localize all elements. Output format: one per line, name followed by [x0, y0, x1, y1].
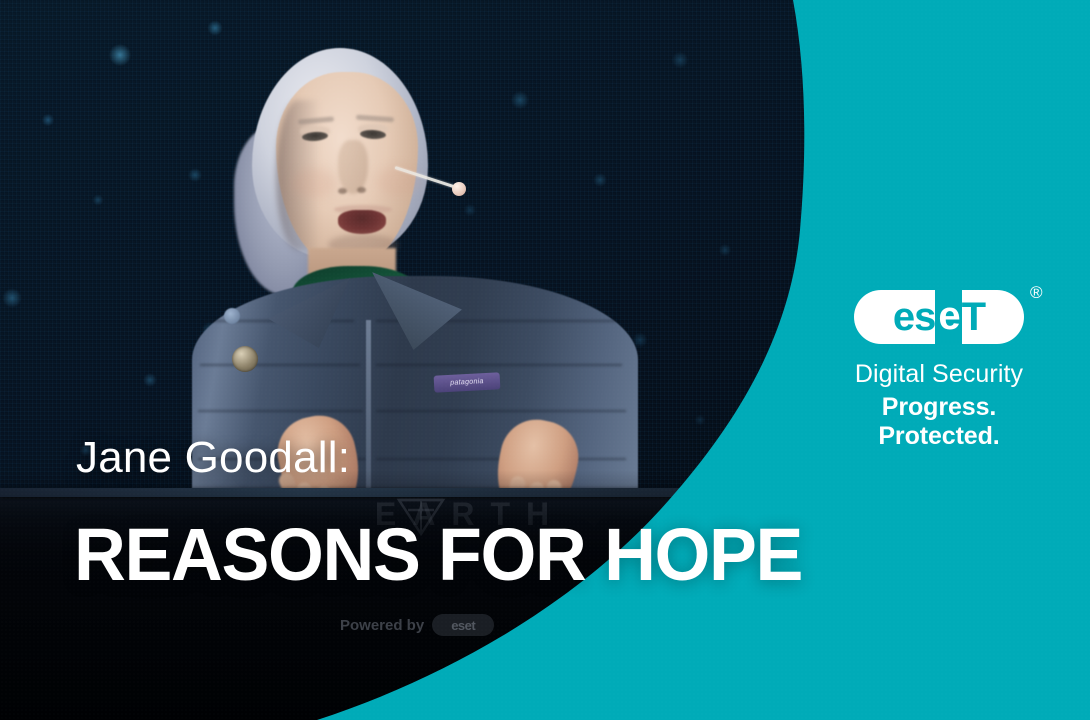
- patagonia-label: patagonia: [434, 372, 501, 392]
- registered-trademark-icon: ®: [1030, 284, 1043, 301]
- nostril-right: [357, 187, 366, 193]
- powered-by-label: Powered by: [340, 617, 424, 634]
- mouth: [338, 210, 386, 234]
- nose: [338, 140, 368, 194]
- headset-mic-capsule: [452, 182, 466, 196]
- quilt-seam: [376, 364, 622, 366]
- page-title: REASONS FOR HOPE: [74, 518, 802, 592]
- eset-logo-segment-t: T: [962, 297, 985, 337]
- shoulder-detail: [224, 308, 240, 324]
- cheek-left: [292, 168, 336, 198]
- brand-tagline-primary: Digital Security: [826, 360, 1052, 389]
- promo-graphic: patagonia EARTH Powered by eset Jane Goo…: [0, 0, 1090, 720]
- powered-by-block: Powered by eset: [340, 614, 570, 636]
- eset-logo: es e T ®: [854, 282, 1024, 344]
- quilt-seam: [376, 410, 626, 412]
- nostril-left: [338, 188, 347, 194]
- eset-brand-block: es e T ® Digital Security Progress. Prot…: [826, 282, 1052, 451]
- lapel-pin: [232, 346, 258, 372]
- powered-by-eset-logo: eset: [432, 614, 494, 636]
- quilt-seam: [200, 364, 360, 366]
- quilt-seam: [198, 410, 363, 412]
- eset-logo-segment-e-inverted: e: [935, 290, 961, 344]
- kicker-text: Jane Goodall:: [76, 436, 350, 480]
- brand-tagline-secondary: Progress. Protected.: [826, 393, 1052, 451]
- cheek-right: [376, 166, 420, 196]
- eset-logo-segment-es: es: [893, 297, 936, 337]
- eset-logo-letters: es e T: [854, 290, 1024, 344]
